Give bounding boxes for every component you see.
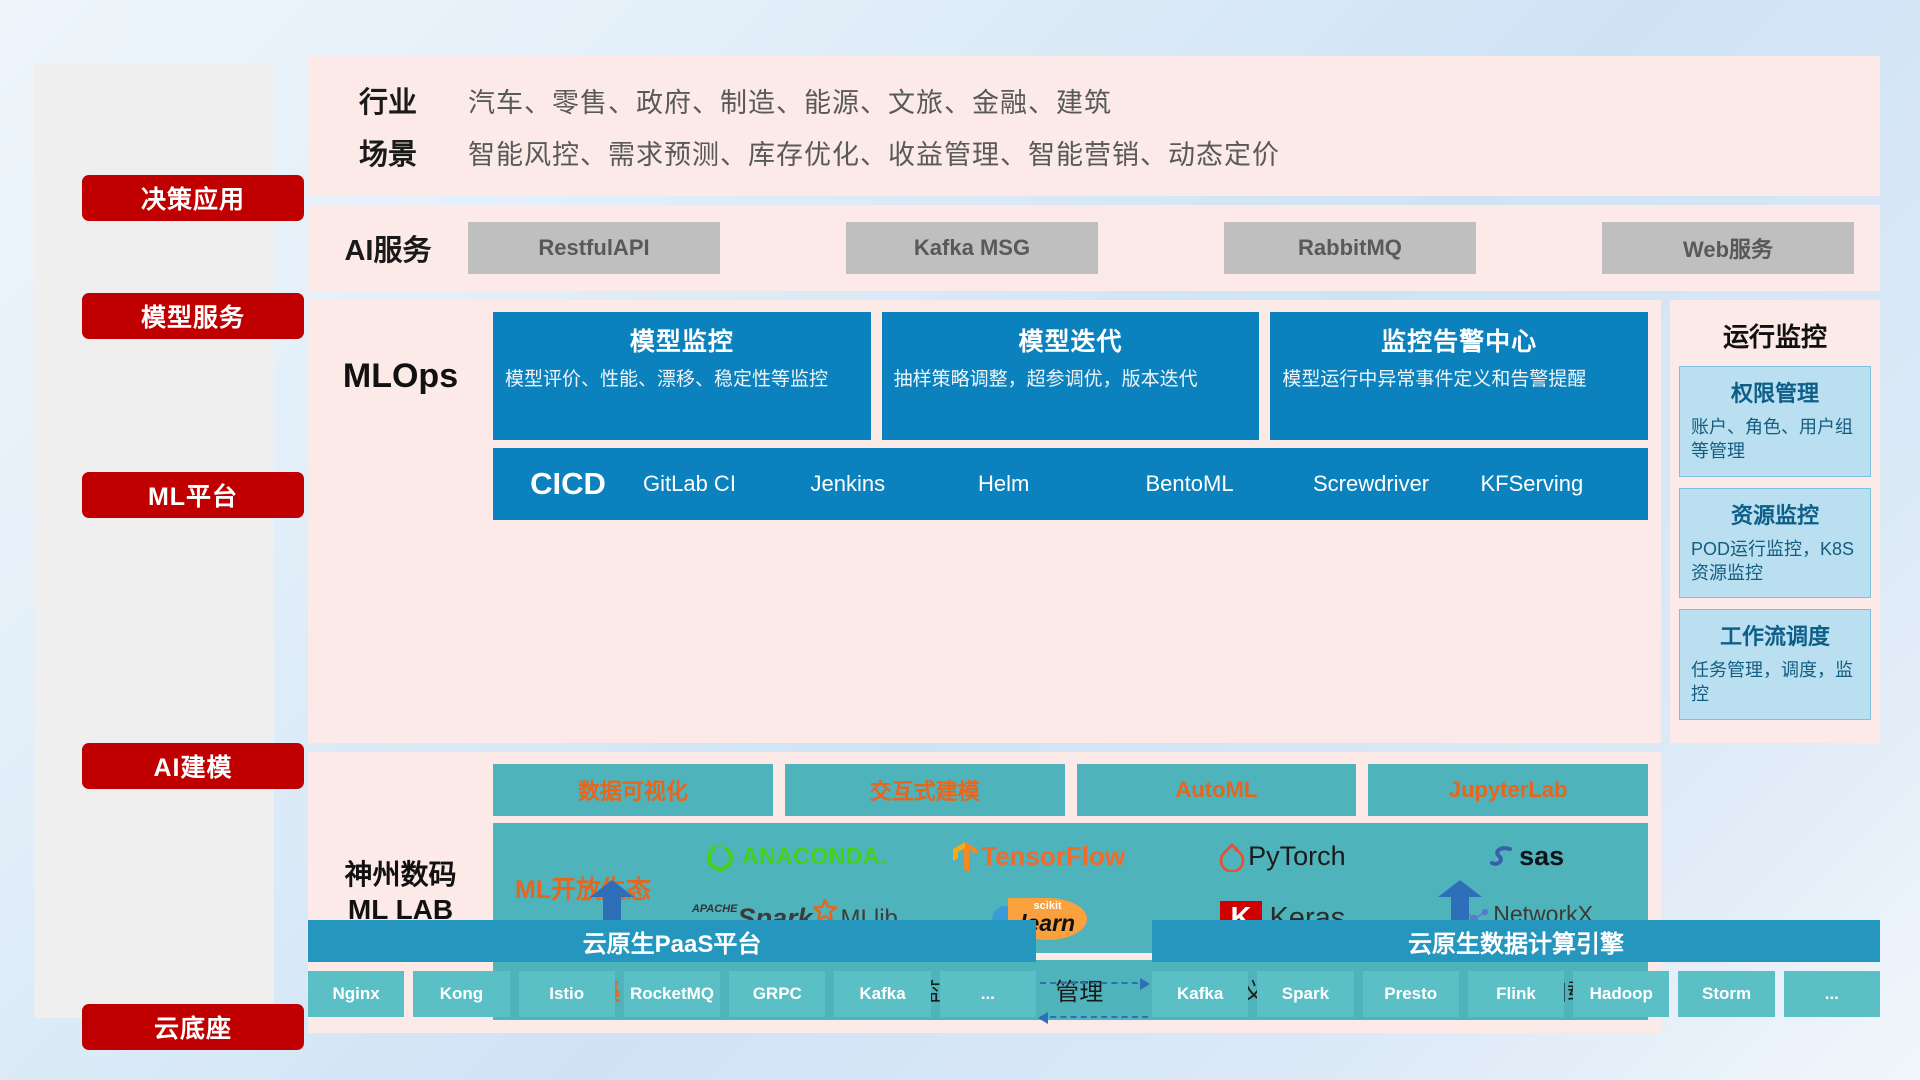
- sidebar-item-label: 决策应用: [141, 180, 245, 216]
- anaconda-wordmark: ANACONDA.: [742, 843, 887, 870]
- ai-service-label: AI服务: [308, 227, 468, 269]
- pytorch-icon: [1219, 842, 1245, 872]
- monitor-card-workflow[interactable]: 工作流调度 任务管理，调度，监控: [1679, 609, 1871, 720]
- cloud-compute-column: 云原生数据计算引擎 Kafka Spark Presto Flink Hadoo…: [1152, 920, 1880, 1017]
- anaconda-icon: [703, 840, 737, 874]
- industry-row: 行业 汽车、零售、政府、制造、能源、文旅、金融、建筑: [308, 74, 1880, 126]
- cicd-item-helm[interactable]: Helm: [978, 472, 1146, 495]
- anaconda-logo: ANACONDA.: [673, 826, 917, 888]
- mlops-card-alert-center[interactable]: 监控告警中心 模型运行中异常事件定义和告警提醒: [1270, 312, 1648, 440]
- ml-platform-section: MLOps 模型监控 模型评价、性能、漂移、稳定性等监控 模型迭代 抽样策略调整…: [308, 300, 1880, 743]
- ai-service-chip-kafka-msg[interactable]: Kafka MSG: [846, 222, 1098, 274]
- pytorch-wordmark: PyTorch: [1248, 841, 1346, 872]
- sas-logo: sas: [1404, 826, 1648, 888]
- card-title: 监控告警中心: [1282, 322, 1636, 358]
- card-desc: 任务管理，调度，监控: [1691, 658, 1859, 707]
- cicd-label: CICD: [493, 466, 643, 502]
- ai-service-chip-web-service[interactable]: Web服务: [1602, 222, 1854, 274]
- architecture-diagram: 决策应用 模型服务 ML平台 AI建模 云底座 行业 汽车、零售、政府、制造、能…: [0, 0, 1920, 1080]
- paas-chip-istio[interactable]: Istio: [519, 971, 615, 1017]
- cloud-link-arrows: [1036, 920, 1152, 1017]
- card-desc: 账户、角色、用户组等管理: [1691, 415, 1859, 464]
- sidebar-item-label: ML平台: [148, 477, 238, 513]
- cicd-item-screwdriver[interactable]: Screwdriver: [1313, 472, 1481, 495]
- paas-chip-nginx[interactable]: Nginx: [308, 971, 404, 1017]
- cicd-row: CICD GitLab CI Jenkins Helm BentoML Scre…: [493, 448, 1648, 520]
- ai-service-band: AI服务 RestfulAPI Kafka MSG RabbitMQ Web服务: [308, 205, 1880, 291]
- card-title: 权限管理: [1691, 376, 1859, 408]
- card-title: 资源监控: [1691, 498, 1859, 530]
- chip-label: RestfulAPI: [538, 235, 649, 261]
- mlops-card-model-iteration[interactable]: 模型迭代 抽样策略调整，超参调优，版本迭代: [882, 312, 1260, 440]
- compute-chip-more[interactable]: ...: [1784, 971, 1880, 1017]
- sidebar-item-ml-platform[interactable]: ML平台: [82, 472, 304, 518]
- sidebar-item-label: 模型服务: [141, 298, 245, 334]
- card-desc: 抽样策略调整，超参调优，版本迭代: [894, 367, 1248, 393]
- paas-chip-more[interactable]: ...: [940, 971, 1036, 1017]
- compute-chip-kafka[interactable]: Kafka: [1152, 971, 1248, 1017]
- compute-chip-spark[interactable]: Spark: [1257, 971, 1353, 1017]
- paas-chip-rocketmq[interactable]: RocketMQ: [624, 971, 720, 1017]
- mlops-card-model-monitor[interactable]: 模型监控 模型评价、性能、漂移、稳定性等监控: [493, 312, 871, 440]
- mlops-band: MLOps 模型监控 模型评价、性能、漂移、稳定性等监控 模型迭代 抽样策略调整…: [308, 300, 1661, 743]
- tensorflow-wordmark: TensorFlow: [981, 841, 1125, 872]
- scenario-row: 场景 智能风控、需求预测、库存优化、收益管理、智能营销、动态定价: [308, 126, 1880, 178]
- cicd-item-kfserving[interactable]: KFServing: [1481, 472, 1649, 495]
- paas-chip-kafka[interactable]: Kafka: [834, 971, 930, 1017]
- mlops-label: MLOps: [308, 312, 493, 440]
- dashed-arrow-left-icon: [1040, 1016, 1148, 1018]
- layer-rail: 决策应用 模型服务 ML平台 AI建模 云底座: [34, 64, 274, 1018]
- chip-label: RabbitMQ: [1298, 235, 1402, 261]
- cicd-item-gitlab-ci[interactable]: GitLab CI: [643, 472, 811, 495]
- compute-chip-presto[interactable]: Presto: [1363, 971, 1459, 1017]
- chip-label: Kafka MSG: [914, 235, 1030, 261]
- tensorflow-logo: TensorFlow: [917, 826, 1161, 888]
- compute-chip-storm[interactable]: Storm: [1678, 971, 1774, 1017]
- sidebar-item-ai-modeling[interactable]: AI建模: [82, 743, 304, 789]
- lab-tab-interactive-modeling[interactable]: 交互式建模: [785, 764, 1065, 816]
- scenario-value: 智能风控、需求预测、库存优化、收益管理、智能营销、动态定价: [468, 133, 1280, 172]
- sidebar-item-cloud-base[interactable]: 云底座: [82, 1004, 304, 1050]
- arrow-row: [308, 880, 1880, 920]
- scenario-label: 场景: [308, 131, 468, 173]
- industry-label: 行业: [308, 79, 468, 121]
- runtime-monitor-panel: 运行监控 权限管理 账户、角色、用户组等管理 资源监控 POD运行监控，K8S资…: [1670, 300, 1880, 743]
- sidebar-item-label: AI建模: [153, 748, 232, 784]
- card-desc: 模型运行中异常事件定义和告警提醒: [1282, 367, 1636, 393]
- cloud-compute-title: 云原生数据计算引擎: [1152, 920, 1880, 962]
- lab-tab-data-visualization[interactable]: 数据可视化: [493, 764, 773, 816]
- tensorflow-icon: [952, 841, 978, 873]
- sidebar-item-decision-app[interactable]: 决策应用: [82, 175, 304, 221]
- card-desc: 模型评价、性能、漂移、稳定性等监控: [505, 367, 859, 393]
- runtime-monitor-title: 运行监控: [1679, 310, 1871, 366]
- compute-chip-flink[interactable]: Flink: [1468, 971, 1564, 1017]
- lab-tab-jupyterlab[interactable]: JupyterLab: [1368, 764, 1648, 816]
- ai-service-chip-rabbitmq[interactable]: RabbitMQ: [1224, 222, 1476, 274]
- sidebar-item-model-service[interactable]: 模型服务: [82, 293, 304, 339]
- chip-label: Web服务: [1683, 232, 1773, 264]
- sidebar-item-label: 云底座: [154, 1009, 232, 1045]
- paas-chip-grpc[interactable]: GRPC: [729, 971, 825, 1017]
- card-desc: POD运行监控，K8S资源监控: [1691, 537, 1859, 586]
- lab-tab-automl[interactable]: AutoML: [1077, 764, 1357, 816]
- cicd-item-bentoml[interactable]: BentoML: [1146, 472, 1314, 495]
- cicd-item-jenkins[interactable]: Jenkins: [811, 472, 979, 495]
- up-arrow-paas-icon: [590, 880, 634, 920]
- cloud-paas-column: 云原生PaaS平台 Nginx Kong Istio RocketMQ GRPC…: [308, 920, 1036, 1017]
- card-title: 模型迭代: [894, 322, 1248, 358]
- card-title: 工作流调度: [1691, 619, 1859, 651]
- cloud-paas-title: 云原生PaaS平台: [308, 920, 1036, 962]
- ai-service-chip-restfulapi[interactable]: RestfulAPI: [468, 222, 720, 274]
- pytorch-logo: PyTorch: [1161, 826, 1405, 888]
- compute-chip-hadoop[interactable]: Hadoop: [1573, 971, 1669, 1017]
- dashed-arrow-right-icon: [1040, 982, 1148, 984]
- monitor-card-resource[interactable]: 资源监控 POD运行监控，K8S资源监控: [1679, 488, 1871, 599]
- industry-value: 汽车、零售、政府、制造、能源、文旅、金融、建筑: [468, 81, 1112, 120]
- up-arrow-compute-icon: [1438, 880, 1482, 920]
- sas-wordmark: sas: [1519, 841, 1564, 872]
- decision-app-band: 行业 汽车、零售、政府、制造、能源、文旅、金融、建筑 场景 智能风控、需求预测、…: [308, 56, 1880, 196]
- card-title: 模型监控: [505, 322, 859, 358]
- paas-chip-kong[interactable]: Kong: [413, 971, 509, 1017]
- monitor-card-permission[interactable]: 权限管理 账户、角色、用户组等管理: [1679, 366, 1871, 477]
- cloud-base-section: 云原生PaaS平台 Nginx Kong Istio RocketMQ GRPC…: [308, 880, 1880, 1017]
- sas-icon: [1488, 842, 1518, 872]
